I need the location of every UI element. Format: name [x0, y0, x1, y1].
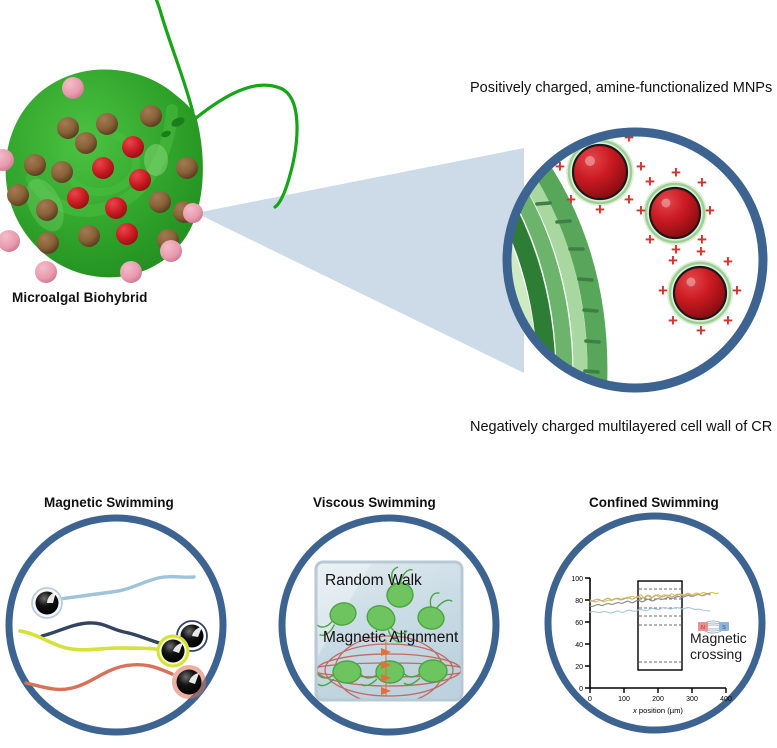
microalgal-biohybrid-label: Microalgal Biohybrid	[12, 290, 148, 305]
xtick-200: 200	[652, 696, 664, 703]
magnetic-alignment-label: Magnetic Alignment	[323, 629, 458, 647]
panel-title-confined-swimming: Confined Swimming	[589, 495, 719, 510]
svg-text:+: +	[668, 251, 678, 270]
cell-wall-caption: Negatively charged multilayered cell wal…	[470, 419, 772, 435]
svg-text:+: +	[671, 163, 681, 182]
svg-text:+: +	[645, 230, 655, 249]
svg-text:+: +	[723, 311, 733, 330]
swimmer-yellow	[157, 635, 189, 667]
svg-text:+: +	[696, 242, 706, 261]
random-walk-label: Random Walk	[325, 572, 422, 590]
mnp-caption: Positively charged, amine-functionalized…	[470, 80, 772, 96]
swimmer-salmon	[172, 665, 206, 699]
xtick-400: 400	[720, 696, 732, 703]
magnetic-crossing-annotation: Magnetic crossing	[690, 630, 776, 662]
panel-title-viscous-swimming: Viscous Swimming	[313, 495, 436, 510]
svg-text:+: +	[697, 173, 707, 192]
xtick-300: 300	[686, 696, 698, 703]
swimmer-lightblue	[31, 587, 63, 619]
vacuole-2	[144, 144, 168, 176]
svg-text:+: +	[595, 200, 605, 219]
svg-text:+: +	[705, 201, 715, 220]
svg-text:+: +	[636, 201, 646, 220]
magnetic-crossing-line-1: Magnetic	[690, 630, 776, 646]
magnifier-cone	[196, 148, 524, 373]
chart-x-axis-label: x position (µm)	[632, 706, 683, 715]
svg-text:+: +	[645, 172, 655, 191]
ytick-40: 40	[575, 642, 583, 649]
svg-text:+: +	[723, 252, 733, 271]
panel-title-magnetic-swimming: Magnetic Swimming	[44, 495, 174, 510]
svg-text:+: +	[658, 281, 668, 300]
xtick-0: 0	[588, 696, 592, 703]
svg-text:+: +	[566, 190, 576, 209]
ytick-100: 100	[571, 576, 583, 583]
panel-magnetic-swimming	[9, 518, 223, 732]
svg-text:+: +	[732, 281, 742, 300]
svg-text:+: +	[624, 190, 634, 209]
panel-viscous-swimming	[282, 518, 496, 732]
ytick-0: 0	[579, 686, 583, 693]
ytick-80: 80	[575, 598, 583, 605]
svg-text:+: +	[696, 321, 706, 340]
svg-text:+: +	[668, 311, 678, 330]
ytick-60: 60	[575, 620, 583, 627]
magnetic-crossing-line-2: crossing	[690, 646, 776, 662]
ytick-20: 20	[575, 664, 583, 671]
flagellum-lower	[196, 85, 297, 207]
panel-confined-swimming: 100 80 60 40 20 0 0 100 200 300 400 x po…	[548, 516, 762, 730]
xtick-100: 100	[618, 696, 630, 703]
